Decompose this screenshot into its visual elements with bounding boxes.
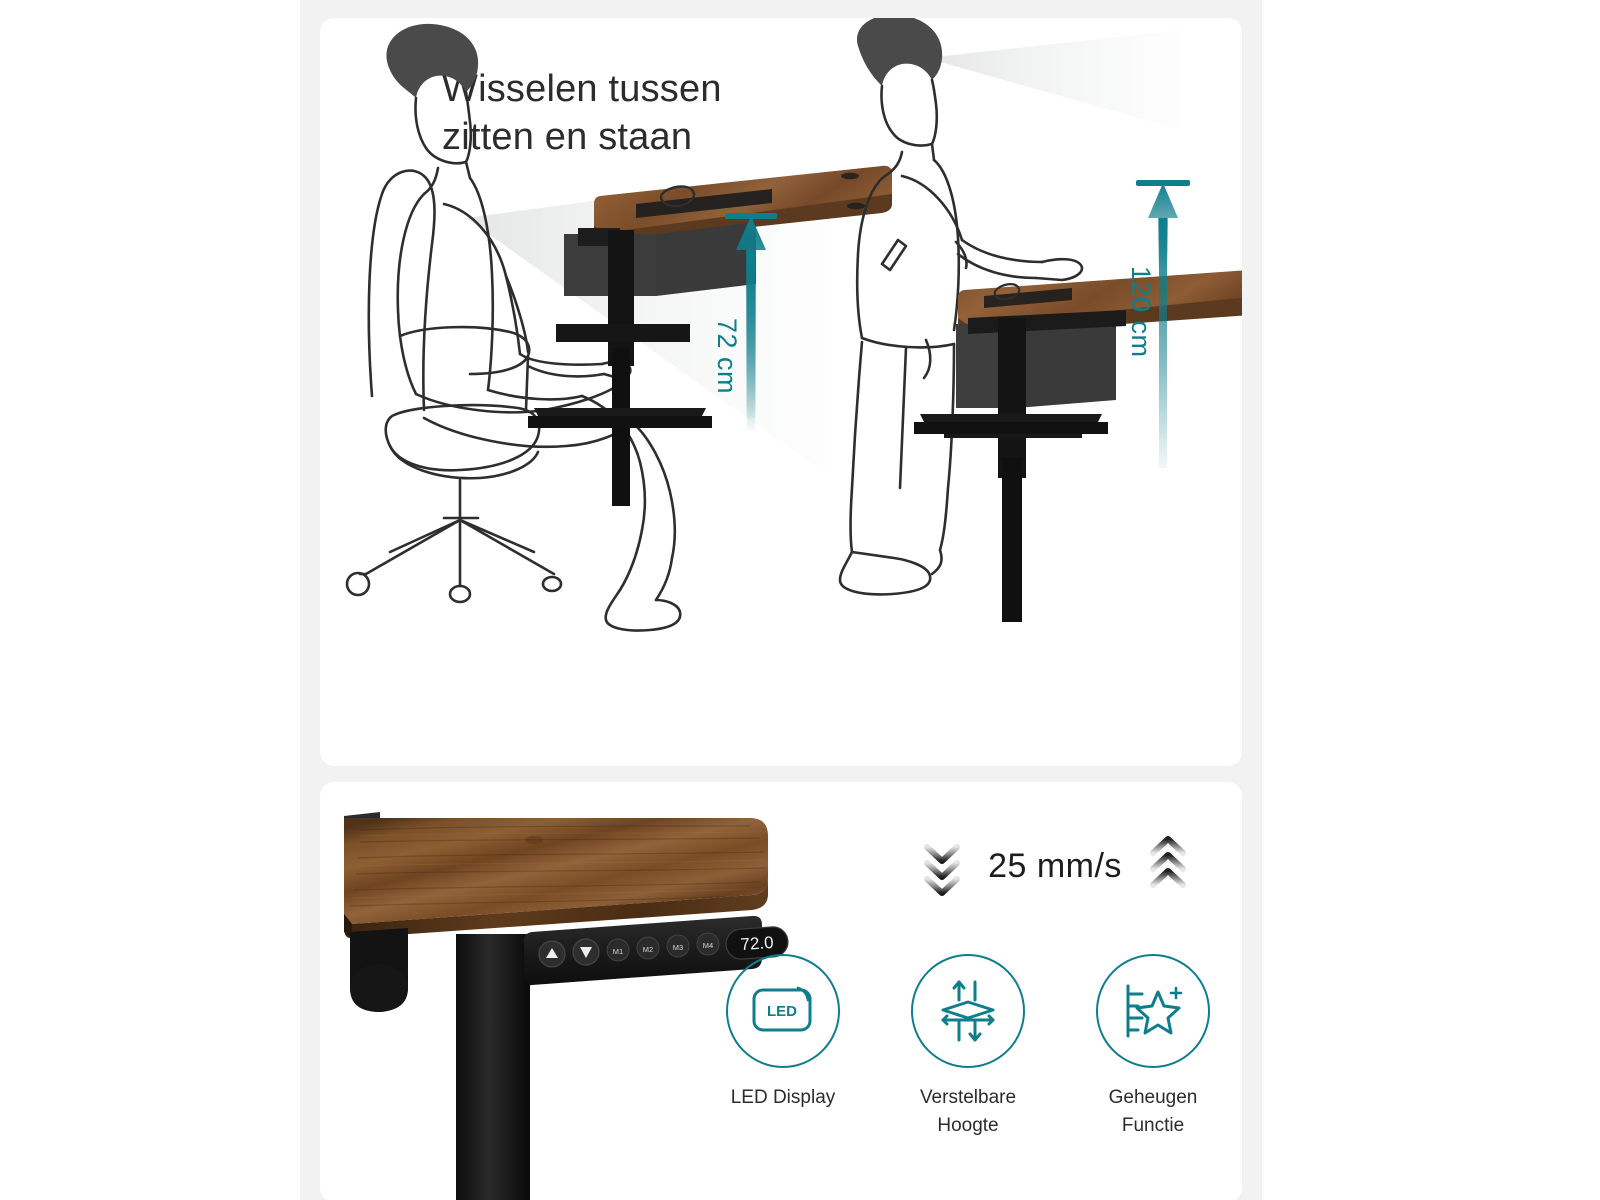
lift-speed-row: 25 mm/s (900, 830, 1210, 902)
feature-list: LED LED Display (708, 954, 1228, 1139)
feature-circle-height (911, 954, 1025, 1068)
led-display-icon: LED (750, 982, 816, 1040)
product-features-card: M1 M2 M3 M4 72.0 (320, 782, 1242, 1200)
standing-height-label: 120 cm (1126, 266, 1156, 358)
sit-stand-illustration-card: Wisselen tussen zitten en staan (320, 18, 1242, 766)
svg-text:M4: M4 (703, 941, 713, 950)
feature-label-memory: Geheugen Functie (1109, 1084, 1198, 1139)
feature-circle-led: LED (726, 954, 840, 1068)
feature-circle-memory (1096, 954, 1210, 1068)
feature-led-display[interactable]: LED LED Display (708, 954, 858, 1139)
standing-height-dimension: 120 cm (1126, 180, 1190, 468)
chevrons-down-icon (918, 835, 966, 897)
lift-speed-value: 25 mm/s (988, 847, 1122, 886)
feature-memory-function[interactable]: Geheugen Functie (1078, 954, 1228, 1139)
feature-adjustable-height[interactable]: Verstelbare Hoogte (893, 954, 1043, 1139)
svg-text:M3: M3 (673, 943, 683, 952)
led-display-value: 72.0 (740, 933, 774, 954)
sitting-height-label: 72 cm (712, 318, 742, 394)
standing-desk (914, 270, 1242, 622)
gaze-cone-standing (926, 30, 1181, 130)
sit-stand-scene: 72 cm (320, 18, 1242, 766)
led-badge-text: LED (767, 1003, 797, 1020)
feature-label-led: LED Display (731, 1084, 836, 1112)
chevrons-up-icon (1144, 835, 1192, 897)
standing-person-group: 120 cm (840, 18, 1242, 622)
desk-column-upper (608, 230, 634, 366)
infographic-page: Wisselen tussen zitten en staan (0, 0, 1600, 1200)
svg-text:M1: M1 (613, 947, 623, 956)
adjustable-height-icon (935, 978, 1001, 1044)
seated-person-group: 72 cm (347, 24, 892, 631)
feature-label-height: Verstelbare Hoogte (920, 1084, 1016, 1139)
svg-text:M2: M2 (643, 945, 653, 954)
memory-star-icon (1120, 980, 1186, 1042)
desk-leg-column (456, 934, 530, 1200)
